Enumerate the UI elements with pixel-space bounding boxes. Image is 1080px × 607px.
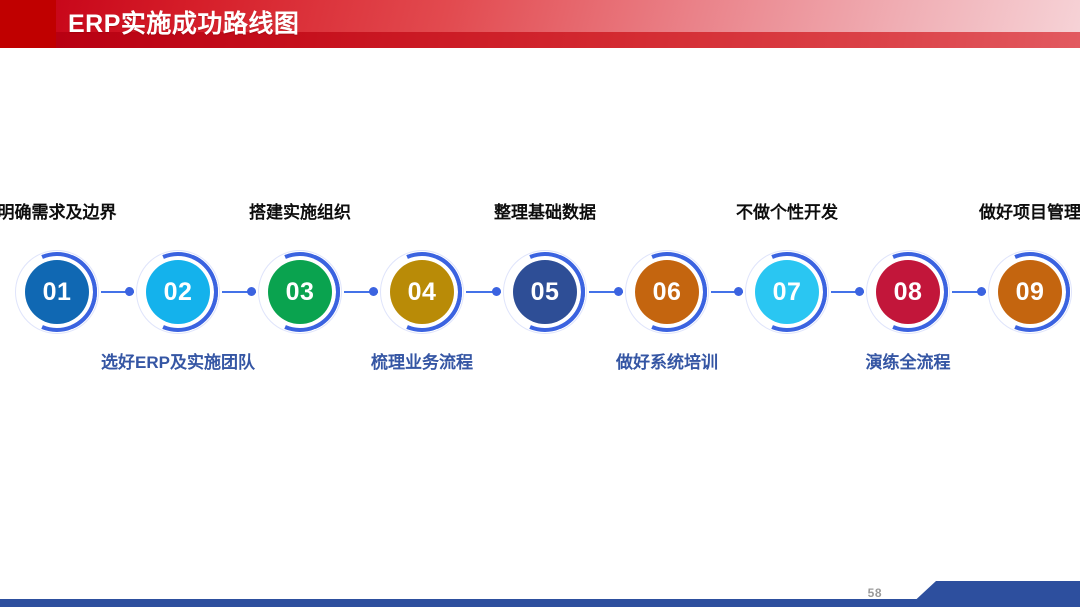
step-label-02: 选好ERP及实施团队 xyxy=(101,348,255,373)
step-number-badge: 05 xyxy=(513,260,577,324)
step-number-badge: 01 xyxy=(25,260,89,324)
roadmap-step-03[interactable]: 03 xyxy=(258,250,342,334)
connector-dot xyxy=(492,287,501,296)
roadmap-step-08[interactable]: 08 xyxy=(866,250,950,334)
step-number-badge: 07 xyxy=(755,260,819,324)
connector-dot xyxy=(734,287,743,296)
roadmap-timeline: 01明确需求及边界02选好ERP及实施团队03搭建实施组织04梳理业务流程05整… xyxy=(0,190,1080,390)
step-number-badge: 02 xyxy=(146,260,210,324)
step-label-01: 明确需求及边界 xyxy=(0,198,117,223)
step-label-03: 搭建实施组织 xyxy=(249,198,351,223)
roadmap-step-06[interactable]: 06 xyxy=(625,250,709,334)
page-title: ERP实施成功路线图 xyxy=(68,8,299,40)
connector-dot xyxy=(855,287,864,296)
step-label-07: 不做个性开发 xyxy=(736,198,838,223)
roadmap-step-05[interactable]: 05 xyxy=(503,250,587,334)
page-number: 58 xyxy=(868,586,882,600)
roadmap-step-04[interactable]: 04 xyxy=(380,250,464,334)
connector-dot xyxy=(614,287,623,296)
step-number-badge: 08 xyxy=(876,260,940,324)
step-number-badge: 04 xyxy=(390,260,454,324)
connector-dot xyxy=(977,287,986,296)
step-number-badge: 06 xyxy=(635,260,699,324)
roadmap-step-01[interactable]: 01 xyxy=(15,250,99,334)
roadmap-step-07[interactable]: 07 xyxy=(745,250,829,334)
connector-dot xyxy=(125,287,134,296)
connector-dot xyxy=(369,287,378,296)
step-label-05: 整理基础数据 xyxy=(494,198,596,223)
step-label-06: 做好系统培训 xyxy=(616,348,718,373)
step-number-badge: 03 xyxy=(268,260,332,324)
roadmap-step-09[interactable]: 09 xyxy=(988,250,1072,334)
step-label-08: 演练全流程 xyxy=(866,348,951,373)
connector-dot xyxy=(247,287,256,296)
roadmap-step-02[interactable]: 02 xyxy=(136,250,220,334)
step-label-09: 做好项目管理 xyxy=(979,198,1080,223)
step-label-04: 梳理业务流程 xyxy=(371,348,473,373)
header-accent-block xyxy=(0,0,56,48)
step-number-badge: 09 xyxy=(998,260,1062,324)
slide-header: ERP实施成功路线图 xyxy=(0,0,1080,48)
